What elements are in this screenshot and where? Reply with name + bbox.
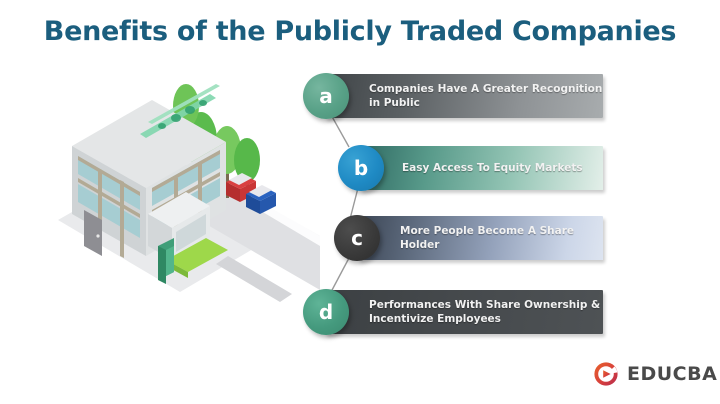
- benefit-text-d: Performances With Share Ownership & Ince…: [369, 298, 603, 326]
- benefit-bar-a[interactable]: Companies Have A Greater Recognition in …: [325, 74, 603, 118]
- benefit-marker-c[interactable]: c: [334, 215, 380, 261]
- benefit-row-a[interactable]: Companies Have A Greater Recognition in …: [303, 74, 603, 118]
- benefit-text-c: More People Become A Share Holder: [400, 224, 603, 252]
- educba-swirl-icon: [592, 360, 620, 388]
- benefit-bar-d[interactable]: Performances With Share Ownership & Ince…: [325, 290, 603, 334]
- benefit-text-a: Companies Have A Greater Recognition in …: [369, 82, 603, 110]
- benefit-text-b: Easy Access To Equity Markets: [402, 161, 583, 175]
- benefit-row-d[interactable]: Performances With Share Ownership & Ince…: [303, 290, 603, 334]
- benefit-bar-c[interactable]: More People Become A Share Holder: [358, 216, 603, 260]
- benefit-bar-b[interactable]: Easy Access To Equity Markets: [360, 146, 603, 190]
- benefit-marker-a[interactable]: a: [303, 73, 349, 119]
- benefit-row-b[interactable]: Easy Access To Equity Markets b: [338, 146, 603, 190]
- educba-logo[interactable]: EDUCBA: [592, 360, 717, 388]
- office-building: [72, 84, 226, 260]
- educba-logo-text: EDUCBA: [627, 363, 717, 385]
- page-title: Benefits of the Publicly Traded Companie…: [0, 16, 720, 47]
- benefit-marker-d[interactable]: d: [303, 289, 349, 335]
- illustration-office-building: [40, 60, 320, 310]
- benefit-row-c[interactable]: More People Become A Share Holder c: [334, 216, 603, 260]
- benefit-marker-b[interactable]: b: [338, 145, 384, 191]
